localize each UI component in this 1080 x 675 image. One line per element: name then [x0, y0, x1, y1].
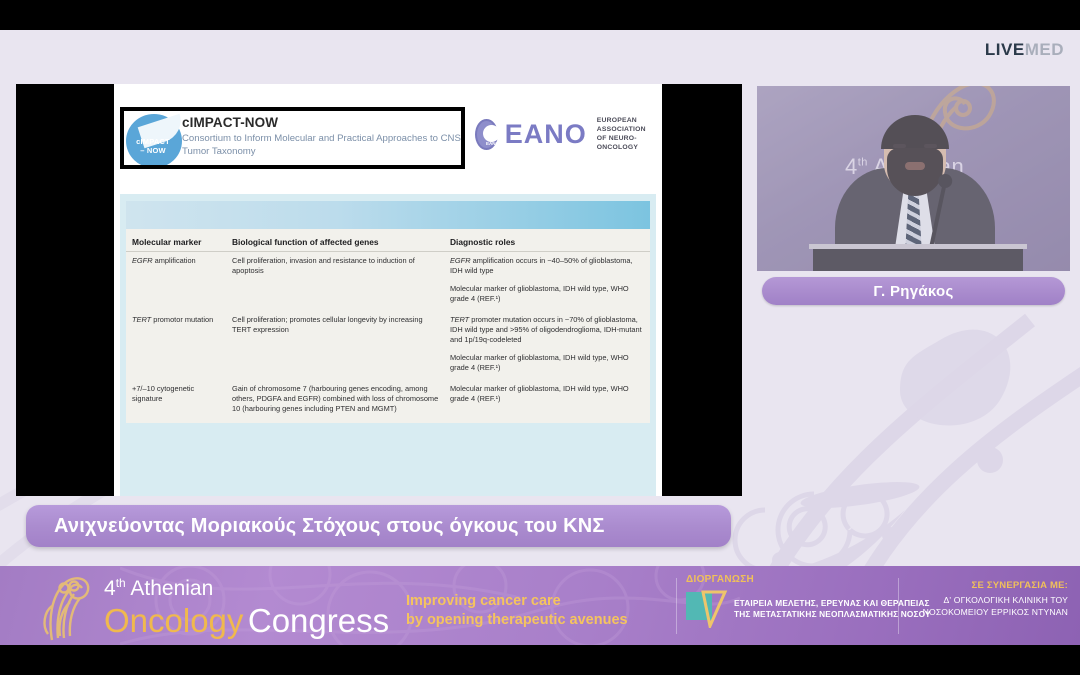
eano-subtitle-line1: EUROPEAN ASSOCIATION — [597, 116, 660, 134]
eano-emblem-icon: EANO — [475, 119, 498, 150]
footer-divider-2 — [898, 578, 899, 634]
tagline-line2: by opening therapeutic avenues — [406, 611, 628, 630]
eano-emblem-label: EANO — [477, 141, 508, 146]
molecular-marker-table: Molecular marker Biological function of … — [126, 229, 650, 423]
role-text: Molecular marker of glioblastoma, IDH wi… — [450, 384, 629, 403]
marker-gene: TERT — [132, 315, 151, 324]
table-cell-function: Cell proliferation; promotes cellular lo… — [232, 315, 450, 374]
speaker-name: Γ. Ρηγάκος — [873, 283, 953, 300]
function-text: Cell proliferation; promotes cellular lo… — [232, 315, 442, 336]
table-row: +7/–10 cytogenetic signature Gain of chr… — [126, 380, 650, 421]
organizer-name: ΕΤΑΙΡΕΙΑ ΜΕΛΕΤΗΣ, ΕΡΕΥΝΑΣ ΚΑΙ ΘΕΡΑΠΕΙΑΣ … — [734, 598, 931, 621]
role-text: promoter mutation occurs in ~70% of glio… — [450, 315, 642, 345]
app-root: LIVEMED cIMPACT – NOW cIMPACT-NOW Consor… — [0, 0, 1080, 675]
marker-rest: amplification — [153, 256, 196, 265]
congress-ordinal: 4 — [104, 577, 116, 600]
page-title: Ανιχνεύοντας Μοριακούς Στόχους στους όγκ… — [26, 515, 605, 538]
cooperation-body: Δ' ΟΓΚΟΛΟΓΙΚΗ ΚΛΙΝΙΚΗ ΤΟΥ ΝΟΣΟΚΟΜΕΙΟΥ ΕΡ… — [923, 594, 1068, 618]
congress-tagline: Improving cancer care by opening therape… — [406, 592, 628, 630]
eano-subtitle-line2: OF NEURO-ONCOLOGY — [597, 134, 660, 152]
table-cell-function: Cell proliferation, invasion and resista… — [232, 256, 450, 305]
congress-oncology: Oncology — [104, 602, 243, 639]
congress-line1: 4th Athenian — [104, 570, 389, 602]
table-cell-roles: TERT promoter mutation occurs in ~70% of… — [450, 315, 642, 374]
cooperation-block: ΣΕ ΣΥΝΕΡΓΑΣΙΑ ΜΕ: Δ' ΟΓΚΟΛΟΓΙΚΗ ΚΛΙΝΙΚΗ … — [923, 580, 1068, 618]
footer-owl-icon — [40, 572, 102, 645]
slide-content: cIMPACT – NOW cIMPACT-NOW Consortium to … — [114, 84, 662, 496]
cooperation-heading: ΣΕ ΣΥΝΕΡΓΑΣΙΑ ΜΕ: — [923, 580, 1068, 591]
role-text: Molecular marker of glioblastoma, IDH wi… — [450, 284, 629, 303]
top-bar: LIVEMED — [0, 30, 1080, 72]
footer-divider — [676, 578, 677, 634]
table-row: EGFR amplification Cell proliferation, i… — [126, 252, 650, 311]
table-cell-function: Gain of chromosome 7 (harbouring genes e… — [232, 384, 450, 415]
speaker-video[interactable]: 4th Athenian y — [757, 86, 1070, 271]
table-header-function: Biological function of affected genes — [232, 237, 450, 247]
organizer-block: ΔΙΟΡΓΑΝΩΣΗ ΕΤΑΙΡΕΙΑ ΜΕΛΕΤΗΣ, ΕΡΕΥΝΑΣ ΚΑΙ… — [686, 574, 931, 628]
function-text: Cell proliferation, invasion and resista… — [232, 256, 442, 277]
role-text: Molecular marker of glioblastoma, IDH wi… — [450, 353, 629, 372]
speaker-name-badge: Γ. Ρηγάκος — [762, 277, 1065, 305]
livemed-med-text: MED — [1025, 40, 1064, 59]
role-gene: TERT — [450, 315, 469, 324]
congress-ordinal-sup: th — [116, 576, 126, 590]
cooperation-line2: ΝΟΣΟΚΟΜΕΙΟΥ ΕΡΡΙΚΟΣ ΝΤΥΝΑΝ — [923, 606, 1068, 618]
tagline-line1: Improving cancer care — [406, 592, 628, 611]
organizer-heading: ΔΙΟΡΓΑΝΩΣΗ — [686, 574, 931, 585]
cimpact-header: cIMPACT – NOW cIMPACT-NOW Consortium to … — [120, 107, 660, 169]
cimpact-subtitle: Consortium to Inform Molecular and Pract… — [182, 132, 465, 158]
eano-subtitle: EUROPEAN ASSOCIATION OF NEURO-ONCOLOGY — [597, 116, 660, 152]
congress-congress: Congress — [248, 602, 389, 639]
slide-viewport[interactable]: cIMPACT – NOW cIMPACT-NOW Consortium to … — [16, 84, 742, 496]
livemed-live-text: LIVE — [985, 40, 1025, 59]
organizer-body: ΕΤΑΙΡΕΙΑ ΜΕΛΕΤΗΣ, ΕΡΕΥΝΑΣ ΚΑΙ ΘΕΡΑΠΕΙΑΣ … — [686, 590, 931, 628]
congress-logo-text: 4th Athenian Oncology Congress — [104, 570, 389, 645]
cimpact-badge-line2: – NOW — [125, 146, 181, 155]
table-header-marker: Molecular marker — [132, 237, 232, 247]
cimpact-badge-line1: cIMPACT — [125, 137, 181, 146]
table-row: TERT promotor mutation Cell proliferatio… — [126, 311, 650, 380]
table-cell-marker: +7/–10 cytogenetic signature — [132, 384, 232, 415]
role-text: amplification occurs in ~40–50% of gliob… — [450, 256, 633, 275]
cimpact-badge-text: cIMPACT – NOW — [125, 137, 181, 155]
cimpact-title: cIMPACT-NOW — [182, 115, 278, 130]
table-header-row: Molecular marker Biological function of … — [126, 233, 650, 252]
congress-footer: 4th Athenian Oncology Congress Improving… — [0, 566, 1080, 645]
presentation-title-bar: Ανιχνεύοντας Μοριακούς Στόχους στους όγκ… — [26, 505, 731, 547]
table-header-roles: Diagnostic roles — [450, 237, 642, 247]
eano-wordmark: EANO — [505, 119, 587, 150]
congress-athenian: Athenian — [130, 577, 213, 600]
marker-rest: +7/–10 cytogenetic signature — [132, 384, 194, 403]
congress-line2: Oncology Congress — [104, 602, 389, 645]
cimpact-logo-box: cIMPACT – NOW cIMPACT-NOW Consortium to … — [120, 107, 465, 169]
organizer-logo-icon — [686, 590, 728, 628]
table-cell-marker: EGFR amplification — [132, 256, 232, 305]
table-cell-roles: EGFR amplification occurs in ~40–50% of … — [450, 256, 642, 305]
organizer-line2: ΤΗΣ ΜΕΤΑΣΤΑΤΙΚΗΣ ΝΕΟΠΛΑΣΜΑΤΙΚΗΣ ΝΟΣΟΥ — [734, 609, 931, 621]
marker-gene: EGFR — [132, 256, 153, 265]
table-cell-marker: TERT promotor mutation — [132, 315, 232, 374]
marker-rest: promotor mutation — [151, 315, 213, 324]
organizer-line1: ΕΤΑΙΡΕΙΑ ΜΕΛΕΤΗΣ, ΕΡΕΥΝΑΣ ΚΑΙ ΘΕΡΑΠΕΙΑΣ — [734, 598, 931, 610]
eano-logo: EANO EANO EUROPEAN ASSOCIATION OF NEURO-… — [475, 116, 660, 152]
organizer-logo-triangle — [700, 590, 728, 628]
owl-watermark — [700, 280, 1080, 610]
function-text: Gain of chromosome 7 (harbouring genes e… — [232, 384, 442, 415]
livemed-logo: LIVEMED — [985, 40, 1064, 60]
role-gene: EGFR — [450, 256, 471, 265]
cooperation-line1: Δ' ΟΓΚΟΛΟΓΙΚΗ ΚΛΙΝΙΚΗ ΤΟΥ — [923, 594, 1068, 606]
table-cell-roles: Molecular marker of glioblastoma, IDH wi… — [450, 384, 642, 415]
video-overlay-haze — [757, 86, 1070, 271]
